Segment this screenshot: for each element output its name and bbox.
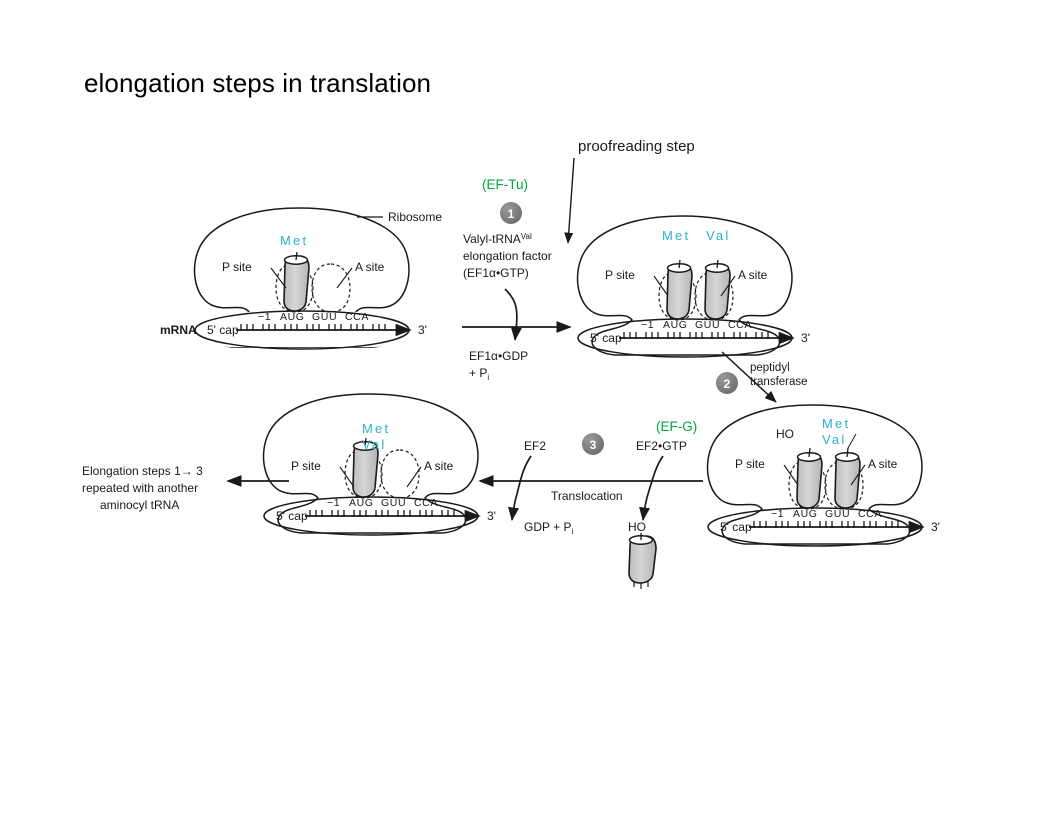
five-prime-cap: 5' cap bbox=[207, 323, 239, 337]
ribosome-label: Ribosome bbox=[388, 210, 442, 224]
trna-a-site-val bbox=[705, 260, 730, 319]
p-site-label: P site bbox=[291, 459, 321, 473]
trna-p-site-met bbox=[667, 260, 692, 319]
slide-canvas: elongation steps in translation proofrea… bbox=[0, 0, 1056, 816]
mrna-label: mRNA bbox=[160, 323, 197, 337]
trna-p-site-met bbox=[284, 252, 309, 311]
three-prime-end: 3' bbox=[801, 331, 810, 345]
step-2-block: 2 peptidyl transferase bbox=[716, 352, 808, 402]
three-prime-end: 3' bbox=[418, 323, 427, 337]
amino-acid-met: Met bbox=[280, 233, 308, 248]
five-prime-cap: 5' cap bbox=[590, 331, 622, 345]
codon-aug: AUG bbox=[280, 311, 305, 323]
step3-product-line: GDP + Pi bbox=[524, 520, 573, 536]
hydroxyl-label: HO bbox=[776, 427, 794, 441]
amino-acid-met: Met bbox=[822, 416, 850, 431]
codon-cca: CCA bbox=[858, 508, 882, 520]
ribosome-bottom-right: HO Met Val P site A site −1 bbox=[708, 405, 940, 546]
released-trna: HO bbox=[628, 520, 656, 589]
codon-aug: AUG bbox=[349, 497, 374, 509]
codon-cca: CCA bbox=[728, 319, 752, 331]
three-prime-end: 3' bbox=[487, 509, 496, 523]
outcome-line1: Elongation steps 1→ 3 bbox=[82, 464, 203, 478]
amino-acid-val: Val bbox=[362, 437, 386, 452]
released-trna-label: HO bbox=[628, 520, 646, 534]
step-3-block: (EF-G) 3 EF2•GTP EF2 Translocation GDP +… bbox=[480, 419, 703, 589]
five-prime-cap: 5' cap bbox=[720, 520, 752, 534]
a-site-label: A site bbox=[868, 457, 898, 471]
amino-acid-met: Met bbox=[662, 228, 690, 243]
p-site-label: P site bbox=[605, 268, 635, 282]
a-site-label: A site bbox=[424, 459, 454, 473]
p-site-label: P site bbox=[735, 457, 765, 471]
codon-minus-one: −1 bbox=[771, 508, 784, 520]
ribosome-top-left: Ribosome Met P site A site bbox=[160, 208, 442, 349]
ribosome-bottom-left: Met Val P site A site −1 AUG GU bbox=[264, 394, 496, 535]
three-prime-end: 3' bbox=[931, 520, 940, 534]
p-site-label: P site bbox=[222, 260, 252, 274]
codon-aug: AUG bbox=[663, 319, 688, 331]
outcome-line2: repeated with another bbox=[82, 481, 198, 495]
codon-minus-one: −1 bbox=[327, 497, 340, 509]
ef-tu-annotation: (EF-Tu) bbox=[482, 177, 528, 192]
translocation-label: Translocation bbox=[551, 489, 623, 503]
amino-acid-val: Val bbox=[822, 432, 846, 447]
step-1-number: 1 bbox=[508, 207, 515, 221]
step3-product-factor: EF2 bbox=[524, 439, 546, 453]
codon-minus-one: −1 bbox=[641, 319, 654, 331]
step1-product-line1: EF1α•GDP bbox=[469, 349, 528, 363]
codon-minus-one: −1 bbox=[258, 311, 271, 323]
translation-elongation-diagram: proofreading step Ribosome Met bbox=[0, 0, 1056, 816]
amino-acid-met: Met bbox=[362, 421, 390, 436]
step-3-number: 3 bbox=[590, 438, 597, 452]
amino-acid-val: Val bbox=[706, 228, 730, 243]
step1-reactant-line1: Valyl-tRNAVal bbox=[463, 232, 532, 246]
trna-p-site-deacylated bbox=[797, 448, 822, 508]
outcome-block: Elongation steps 1→ 3 repeated with anot… bbox=[82, 464, 289, 512]
step3-reactant: EF2•GTP bbox=[636, 439, 687, 453]
step1-reactant-line2: elongation factor bbox=[463, 249, 552, 263]
peptidyl-transferase-line1: peptidyl bbox=[750, 362, 790, 374]
codon-aug: AUG bbox=[793, 508, 818, 520]
a-site-label: A site bbox=[355, 260, 385, 274]
a-site-label: A site bbox=[738, 268, 768, 282]
codon-guu: GUU bbox=[825, 508, 850, 520]
five-prime-cap: 5' cap bbox=[276, 509, 308, 523]
step1-product-line2: + Pi bbox=[469, 366, 489, 382]
ribosome-top-right: Met Val P site A site −1 AUG GU bbox=[578, 216, 810, 357]
peptidyl-transferase-line2: transferase bbox=[750, 376, 808, 388]
step1-reactant-line3: (EF1α•GTP) bbox=[463, 266, 529, 280]
codon-cca: CCA bbox=[414, 497, 438, 509]
outcome-line3: aminocyl tRNA bbox=[100, 498, 179, 512]
step-1-block: (EF-Tu) 1 Valyl-tRNAVal elongation facto… bbox=[462, 177, 570, 382]
codon-guu: GUU bbox=[312, 311, 337, 323]
codon-guu: GUU bbox=[381, 497, 406, 509]
codon-guu: GUU bbox=[695, 319, 720, 331]
proofreading-label: proofreading step bbox=[578, 138, 695, 155]
codon-cca: CCA bbox=[345, 311, 369, 323]
ef-g-annotation: (EF-G) bbox=[656, 419, 697, 434]
step-2-number: 2 bbox=[724, 377, 731, 391]
